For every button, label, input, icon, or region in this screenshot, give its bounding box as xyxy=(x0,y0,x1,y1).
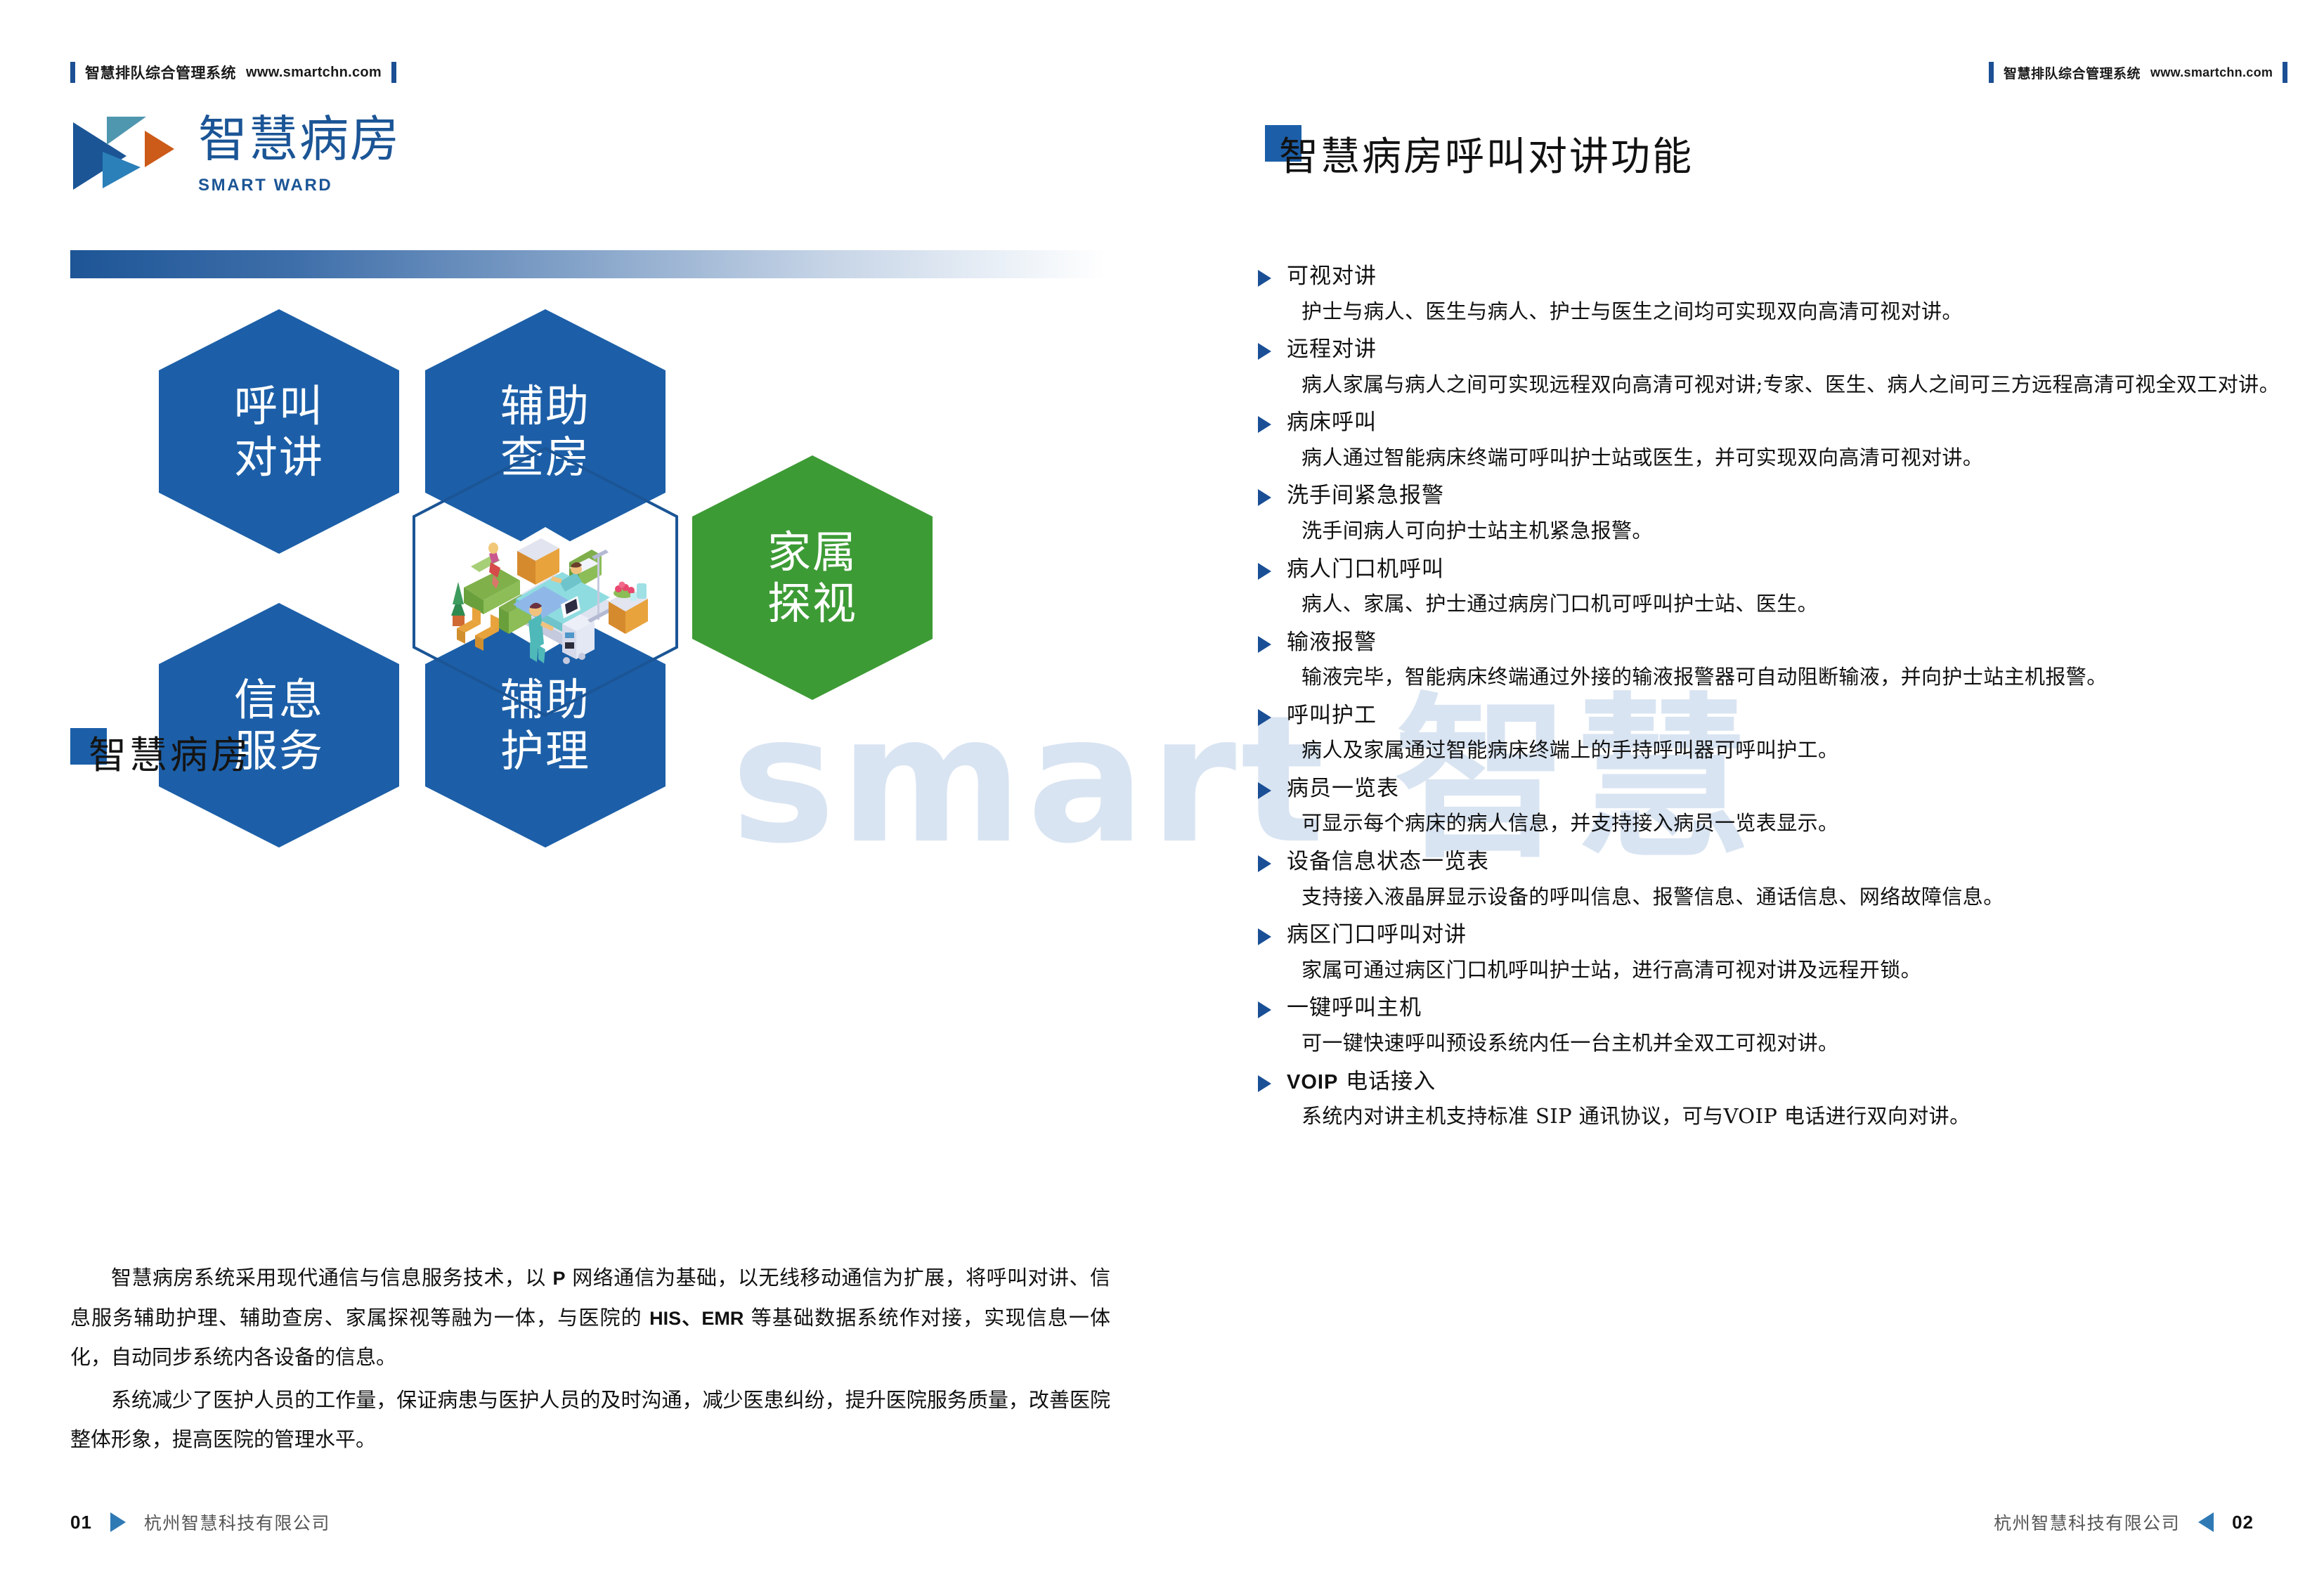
list-item: VOIP 电话接入 系统内对讲主机支持标准 SIP 通讯协议，可与VOIP 电话… xyxy=(1258,1065,2312,1136)
feature-title: 输液报警 xyxy=(1287,626,1377,659)
paragraph-1-latin-ip: P xyxy=(553,1268,566,1289)
triangle-right-icon xyxy=(110,1512,126,1532)
feature-title-latin: VOIP xyxy=(1287,1071,1338,1093)
feature-header[interactable]: VOIP 电话接入 xyxy=(1258,1065,2312,1098)
feature-title: 病员一览表 xyxy=(1287,772,1399,805)
feature-title: 可视对讲 xyxy=(1287,260,1377,293)
triangle-left-icon xyxy=(2198,1512,2214,1532)
section-title: 智慧病房呼叫对讲功能 xyxy=(1265,125,1694,182)
hospital-room-illustration xyxy=(431,484,659,680)
feature-description: 病人家属与病人之间可实现远程双向高清可视对讲;专家、医生、病人之间可三方远程高清… xyxy=(1301,366,2312,404)
brochure-page: 智慧排队综合管理系统 www.smartchn.com 智慧排队综合管理系统 w… xyxy=(0,0,2324,1577)
triangle-bullet-icon xyxy=(1258,636,1271,653)
list-item: 一键呼叫主机 可一键快速呼叫预设系统内任一台主机并全双工可视对讲。 xyxy=(1258,992,2312,1062)
list-item: 病员一览表 可显示每个病床的病人信息，并支持接入病员一览表显示。 xyxy=(1258,772,2312,843)
triangle-bullet-icon xyxy=(1258,855,1271,872)
list-item: 病人门口机呼叫 病人、家属、护士通过病房门口机可呼叫护士站、医生。 xyxy=(1258,553,2312,623)
feature-title: 远程对讲 xyxy=(1287,333,1377,366)
triangle-bullet-icon xyxy=(1258,1001,1271,1018)
list-item: 可视对讲 护士与病人、医生与病人、护士与医生之间均可实现双向高清可视对讲。 xyxy=(1258,260,2312,330)
list-item: 洗手间紧急报警 洗手间病人可向护士站主机紧急报警。 xyxy=(1258,479,2312,550)
feature-description: 可显示每个病床的病人信息，并支持接入病员一览表显示。 xyxy=(1301,805,2312,843)
triangle-bullet-icon xyxy=(1258,343,1271,360)
triangle-bullet-icon xyxy=(1258,1075,1271,1092)
triangle-bullet-icon xyxy=(1258,782,1271,799)
feature-description: 可一键快速呼叫预设系统内任一台主机并全双工可视对讲。 xyxy=(1301,1025,2312,1063)
play-arrows-logo-icon xyxy=(70,112,183,197)
feature-header[interactable]: 远程对讲 xyxy=(1258,333,2312,366)
hex-node-label: 家属探视 xyxy=(767,526,857,629)
feature-header[interactable]: 病人门口机呼叫 xyxy=(1258,553,2312,586)
list-item: 病床呼叫 病人通过智能病床终端可呼叫护士站或医生，并可实现双向高清可视对讲。 xyxy=(1258,406,2312,476)
ward-center-label: 智慧病房 xyxy=(70,724,252,779)
feature-title: VOIP 电话接入 xyxy=(1287,1065,1436,1098)
feature-header[interactable]: 病区门口呼叫对讲 xyxy=(1258,919,2312,952)
triangle-bullet-icon xyxy=(1258,270,1271,287)
paragraph-1-latin-his-emr: HIS、EMR xyxy=(649,1308,744,1329)
list-item: 远程对讲 病人家属与病人之间可实现远程双向高清可视对讲;专家、医生、病人之间可三… xyxy=(1258,333,2312,403)
feature-title: 洗手间紧急报警 xyxy=(1287,479,1444,512)
feature-description: 家属可通过病区门口机呼叫护士站，进行高清可视对讲及远程开锁。 xyxy=(1301,952,2312,989)
footer-right: 杭州智慧科技有限公司 02 xyxy=(1994,1510,2254,1535)
list-item: 呼叫护工 病人及家属通过智能病床终端上的手持呼叫器可呼叫护工。 xyxy=(1258,699,2312,770)
left-column: 智慧病房 SMART WARD 呼叫对讲 辅助查房 家属探视 信息服务 辅助护理 xyxy=(0,0,1153,1577)
hex-center-frame xyxy=(410,445,680,719)
triangle-bullet-icon xyxy=(1258,563,1271,580)
brand-subtitle: SMART WARD xyxy=(198,176,401,195)
feature-title: 病区门口呼叫对讲 xyxy=(1287,919,1467,952)
feature-title: 设备信息状态一览表 xyxy=(1287,845,1489,878)
feature-header[interactable]: 设备信息状态一览表 xyxy=(1258,845,2312,878)
list-item: 病区门口呼叫对讲 家属可通过病区门口机呼叫护士站，进行高清可视对讲及远程开锁。 xyxy=(1258,919,2312,989)
triangle-bullet-icon xyxy=(1258,928,1271,945)
page-number: 01 xyxy=(70,1512,92,1533)
feature-description: 病人及家属通过智能病床终端上的手持呼叫器可呼叫护工。 xyxy=(1301,732,2312,770)
feature-title: 病床呼叫 xyxy=(1287,406,1377,439)
feature-header[interactable]: 输液报警 xyxy=(1258,626,2312,659)
feature-description: 洗手间病人可向护士站主机紧急报警。 xyxy=(1301,512,2312,550)
footer-left: 01 杭州智慧科技有限公司 xyxy=(70,1510,330,1535)
hex-node-call-intercom[interactable]: 呼叫对讲 xyxy=(159,309,399,554)
brand-logo: 智慧病房 SMART WARD xyxy=(70,112,401,197)
intro-paragraphs: 智慧病房系统采用现代通信与信息服务技术，以 P 网络通信为基础，以无线移动通信为… xyxy=(70,1258,1110,1460)
feature-header[interactable]: 一键呼叫主机 xyxy=(1258,992,2312,1025)
triangle-bullet-icon xyxy=(1258,416,1271,433)
paragraph-1: 智慧病房系统采用现代通信与信息服务技术，以 P 网络通信为基础，以无线移动通信为… xyxy=(70,1258,1110,1377)
company-name: 杭州智慧科技有限公司 xyxy=(1994,1510,2180,1535)
feature-description: 输液完毕，智能病床终端通过外接的输液报警器可自动阻断输液，并向护士站主机报警。 xyxy=(1301,658,2312,696)
company-name: 杭州智慧科技有限公司 xyxy=(144,1510,330,1535)
section-title-text: 智慧病房呼叫对讲功能 xyxy=(1279,125,1694,182)
feature-title: 呼叫护工 xyxy=(1287,699,1377,732)
feature-title: 病人门口机呼叫 xyxy=(1287,553,1444,586)
triangle-bullet-icon xyxy=(1258,489,1271,506)
paragraph-2: 系统减少了医护人员的工作量，保证病患与医护人员的及时沟通，减少医患纠纷，提升医院… xyxy=(70,1380,1110,1460)
hex-node-family-visit[interactable]: 家属探视 xyxy=(692,455,933,700)
feature-description: 病人、家属、护士通过病房门口机可呼叫护士站、医生。 xyxy=(1301,585,2312,623)
brand-title: 智慧病房 xyxy=(198,114,401,166)
feature-description: 支持接入液晶屏显示设备的呼叫信息、报警信息、通话信息、网络故障信息。 xyxy=(1301,878,2312,916)
paragraph-1-part-a: 智慧病房系统采用现代通信与信息服务技术，以 xyxy=(111,1266,553,1290)
feature-header[interactable]: 洗手间紧急报警 xyxy=(1258,479,2312,512)
right-column: 智慧病房呼叫对讲功能 可视对讲 护士与病人、医生与病人、护士与医生之间均可实现双… xyxy=(1223,0,2324,1577)
feature-description: 系统内对讲主机支持标准 SIP 通讯协议，可与VOIP 电话进行双向对讲。 xyxy=(1301,1098,2312,1136)
list-item: 输液报警 输液完毕，智能病床终端通过外接的输液报警器可自动阻断输液，并向护士站主… xyxy=(1258,626,2312,696)
feature-description: 护士与病人、医生与病人、护士与医生之间均可实现双向高清可视对讲。 xyxy=(1301,293,2312,331)
list-item: 设备信息状态一览表 支持接入液晶屏显示设备的呼叫信息、报警信息、通话信息、网络故… xyxy=(1258,845,2312,916)
page-number: 02 xyxy=(2232,1512,2254,1533)
feature-title-rest: 电话接入 xyxy=(1338,1069,1436,1094)
feature-header[interactable]: 呼叫护工 xyxy=(1258,699,2312,732)
feature-header[interactable]: 病床呼叫 xyxy=(1258,406,2312,439)
feature-title: 一键呼叫主机 xyxy=(1287,992,1422,1025)
feature-list: 可视对讲 护士与病人、医生与病人、护士与医生之间均可实现双向高清可视对讲。 远程… xyxy=(1258,260,2312,1138)
feature-header[interactable]: 病员一览表 xyxy=(1258,772,2312,805)
feature-description: 病人通过智能病床终端可呼叫护士站或医生，并可实现双向高清可视对讲。 xyxy=(1301,439,2312,477)
gradient-divider xyxy=(70,250,1105,278)
feature-header[interactable]: 可视对讲 xyxy=(1258,260,2312,293)
brand-logo-text: 智慧病房 SMART WARD xyxy=(198,114,401,195)
triangle-bullet-icon xyxy=(1258,709,1271,726)
hex-node-label: 呼叫对讲 xyxy=(234,380,324,483)
ward-center-label-text: 智慧病房 xyxy=(89,724,252,779)
